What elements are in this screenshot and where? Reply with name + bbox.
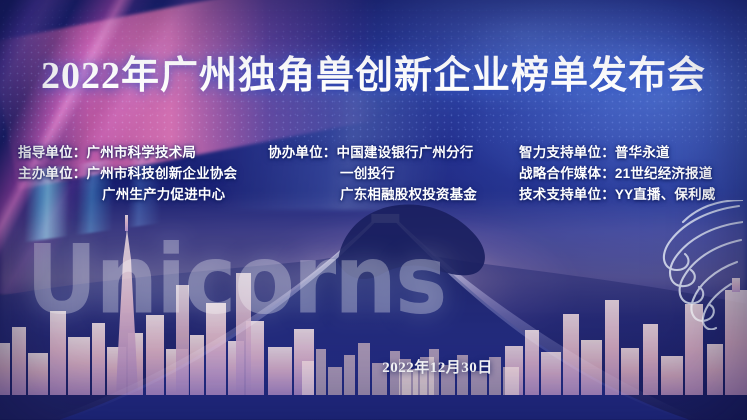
credits-block: 指导单位：广州市科学技术局 主办单位：广州市科技创新企业协会 广州生产力促进中心… — [0, 142, 747, 214]
credit-line: 战略合作媒体：21世纪经济报道 — [519, 163, 716, 184]
credit-line: 广州生产力促进中心 — [18, 184, 237, 205]
credit-line: 广东相融股权投资基金 — [268, 184, 477, 205]
event-poster: Unicorns 2022年广州独角兽创新企业榜单发布会 指导单位：广州市科学技… — [0, 0, 747, 420]
event-date-text: 2022年12月30日 — [382, 356, 493, 377]
credit-line: 智力支持单位：普华永道 — [519, 142, 716, 163]
event-date: 2022年12月30日 — [0, 356, 747, 377]
credit-line: 主办单位：广州市科技创新企业协会 — [18, 163, 237, 184]
credit-line: 协办单位：中国建设银行广州分行 — [268, 142, 477, 163]
credit-line: 指导单位：广州市科学技术局 — [18, 142, 237, 163]
unicorn-mane-flourish — [593, 200, 743, 330]
credits-column-right: 智力支持单位：普华永道 战略合作媒体：21世纪经济报道 技术支持单位：YY直播、… — [519, 142, 716, 205]
credit-line: 一创投行 — [268, 163, 477, 184]
credit-line: 技术支持单位：YY直播、保利威 — [519, 184, 716, 205]
credits-column-left: 指导单位：广州市科学技术局 主办单位：广州市科技创新企业协会 广州生产力促进中心 — [18, 142, 237, 205]
credits-column-middle: 协办单位：中国建设银行广州分行 一创投行 广东相融股权投资基金 — [268, 142, 477, 205]
poster-title: 2022年广州独角兽创新企业榜单发布会 — [0, 44, 747, 99]
unicorns-watermark: Unicorns — [26, 224, 445, 335]
